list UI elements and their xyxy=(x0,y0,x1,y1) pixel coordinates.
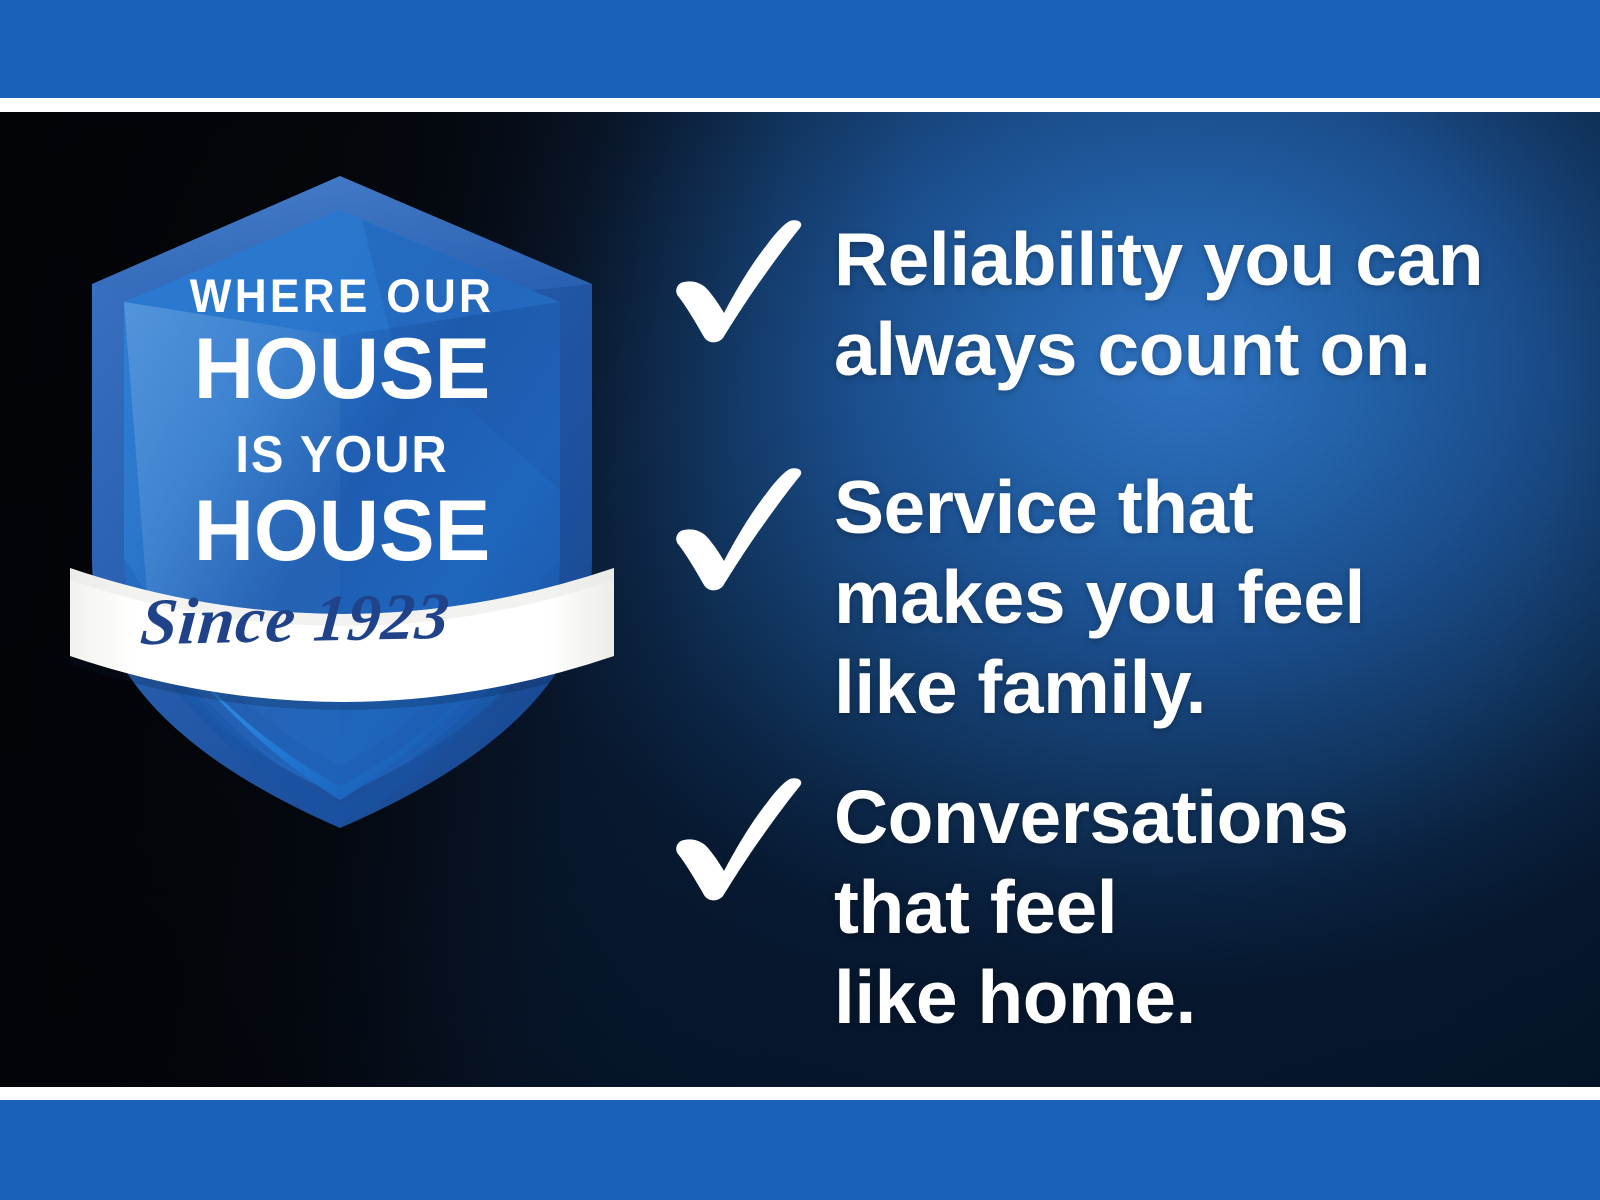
benefit-line: makes you feel xyxy=(834,552,1542,642)
bottom-divider-stripe xyxy=(0,1087,1600,1100)
top-divider-stripe xyxy=(0,98,1600,112)
check-mark-icon xyxy=(662,462,834,600)
benefit-line: like family. xyxy=(834,642,1542,732)
shield-ribbon-text-group: Since 1923 xyxy=(138,580,453,659)
shield-line-2: HOUSE xyxy=(194,320,491,416)
benefit-text-conversations: Conversations that feel like home. xyxy=(834,772,1542,1042)
check-mark-icon xyxy=(662,214,834,352)
benefit-item-reliability: Reliability you can always count on. xyxy=(662,214,1542,394)
shield-headline-group: WHERE OUR HOUSE IS YOUR HOUSE xyxy=(190,270,494,579)
shield-since-text: Since 1923 xyxy=(138,580,453,659)
benefit-text-reliability: Reliability you can always count on. xyxy=(834,214,1542,394)
shield-line-3: IS YOUR xyxy=(235,425,448,484)
benefit-line: always count on. xyxy=(834,304,1542,394)
benefit-line: Service that xyxy=(834,462,1542,552)
benefit-line: like home. xyxy=(834,952,1542,1042)
shield-line-4: HOUSE xyxy=(194,482,491,578)
shield-line-1: WHERE OUR xyxy=(190,270,494,323)
benefit-text-service: Service that makes you feel like family. xyxy=(834,462,1542,732)
check-mark-icon xyxy=(662,772,834,910)
benefit-line: Conversations xyxy=(834,772,1542,862)
benefit-line: that feel xyxy=(834,862,1542,952)
benefit-item-service: Service that makes you feel like family. xyxy=(662,462,1542,732)
benefit-line: Reliability you can xyxy=(834,214,1542,304)
promo-graphic-canvas: WHERE OUR HOUSE IS YOUR HOUSE Since 1923 xyxy=(0,0,1600,1200)
benefits-list: Reliability you can always count on. Ser… xyxy=(662,112,1542,1087)
benefit-item-conversations: Conversations that feel like home. xyxy=(662,772,1542,1042)
shield-emblem: WHERE OUR HOUSE IS YOUR HOUSE Since 1923 xyxy=(62,160,622,840)
top-brand-bar xyxy=(0,0,1600,98)
bottom-brand-bar xyxy=(0,1100,1600,1200)
